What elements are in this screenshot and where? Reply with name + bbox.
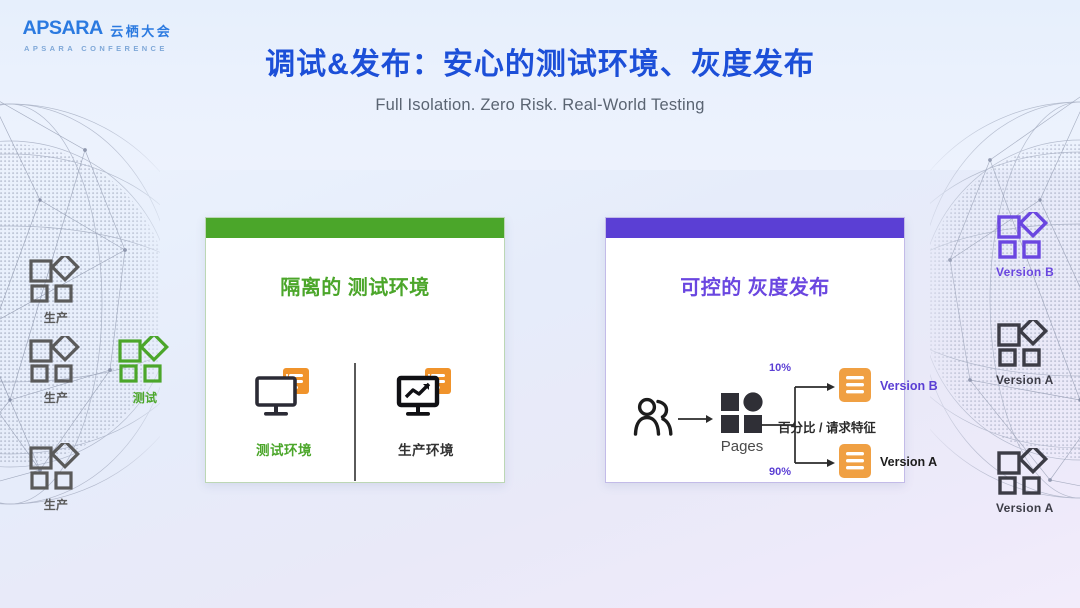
monitor-chart-document-icon — [395, 363, 457, 425]
header-block: 调试&发布：安心的测试环境、灰度发布 Full Isolation. Zero … — [0, 48, 1080, 115]
tiles-diamond-icon — [28, 256, 84, 304]
side-node-prod-2: 生产 — [28, 336, 84, 406]
pages-grid-icon — [720, 392, 764, 434]
side-node-version-a-1: Version A — [996, 320, 1054, 387]
version-label-b: Version B — [880, 379, 938, 393]
arrow-users-to-pages-icon — [678, 413, 714, 425]
side-node-label: 生产 — [28, 389, 84, 406]
side-node-prod-1: 生产 — [28, 256, 84, 326]
page-title: 调试&发布：安心的测试环境、灰度发布 — [0, 48, 1080, 83]
side-node-label: 生产 — [28, 309, 84, 326]
version-label-a: Version A — [880, 455, 937, 469]
side-node-prod-3: 生产 — [28, 443, 84, 513]
side-node-label: Version A — [996, 373, 1054, 387]
env-column-prod[interactable]: 生产环境 — [356, 363, 496, 481]
card-controlled-gray-release[interactable]: 可控的 灰度发布 — [605, 217, 905, 483]
side-node-label: 测试 — [117, 389, 173, 406]
slide-canvas: APSARA 云栖大会 APSARA CONFERENCE 调试&发布：安心的测… — [0, 0, 1080, 608]
split-criteria-label: 百分比 / 请求特征 — [778, 417, 876, 436]
logo-brand-text: APSARA — [22, 18, 102, 40]
tiles-diamond-icon — [996, 448, 1052, 496]
document-lines-icon — [838, 443, 872, 479]
tiles-diamond-icon — [996, 320, 1052, 368]
env-label: 测试环境 — [256, 439, 312, 459]
branch-percent-top: 10% — [769, 362, 791, 374]
card-accent-bar — [606, 218, 904, 238]
card-isolated-test-env[interactable]: 隔离的 测试环境 — [205, 217, 505, 483]
env-column-test[interactable]: 测试环境 — [214, 363, 354, 481]
users-icon — [632, 397, 674, 437]
tiles-diamond-icon — [996, 212, 1052, 260]
card-title: 隔离的 测试环境 — [206, 271, 504, 300]
card-accent-bar — [206, 218, 504, 238]
side-node-version-a-2: Version A — [996, 448, 1054, 515]
side-node-test: 测试 — [117, 336, 173, 406]
logo-brand-cn: 云栖大会 — [110, 21, 172, 40]
env-label: 生产环境 — [398, 439, 454, 459]
tiles-diamond-icon — [28, 336, 84, 384]
side-node-version-b: Version B — [996, 212, 1054, 279]
tiles-diamond-icon — [28, 443, 84, 491]
tiles-diamond-icon — [117, 336, 173, 384]
document-lines-icon — [838, 367, 872, 403]
monitor-document-icon — [253, 363, 315, 425]
environment-comparison-row: 测试环境 — [206, 363, 504, 481]
branch-percent-bottom: 90% — [769, 466, 791, 478]
side-node-label: Version A — [996, 501, 1054, 515]
card-title: 可控的 灰度发布 — [606, 271, 904, 300]
side-node-label: 生产 — [28, 496, 84, 513]
page-subtitle: Full Isolation. Zero Risk. Real-World Te… — [0, 96, 1080, 115]
gray-release-flow-diagram: Pages 10% 90% 百分比 / 请求特征 — [606, 359, 904, 499]
side-node-label: Version B — [996, 265, 1054, 279]
